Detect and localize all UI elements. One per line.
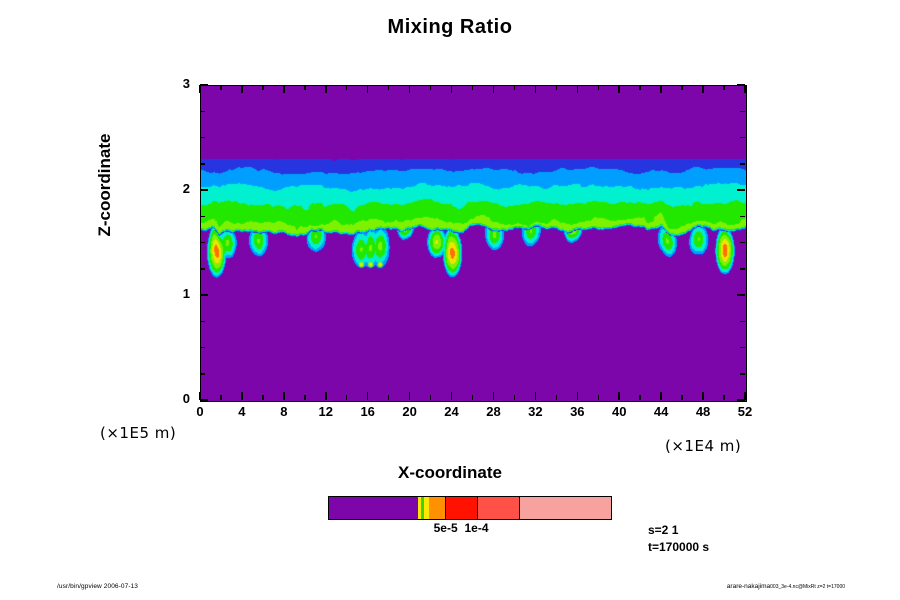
time-annotation: t=170000 s [648,540,709,554]
tick-mark [200,242,205,244]
tick-mark [702,392,704,400]
tick-mark [556,85,558,90]
tick-mark [577,392,579,400]
tick-mark [262,395,264,400]
tick-mark [241,392,243,400]
plot-area[interactable] [200,85,747,402]
colorbar-segment [429,497,447,519]
tick-mark [740,242,745,244]
tick-mark [388,395,390,400]
tick-mark [618,392,620,400]
x-tick-label: 44 [641,404,681,419]
tick-mark [451,85,453,93]
colorbar-segment [478,497,520,519]
tick-mark [740,137,745,139]
colorbar-label-1: 1e-4 [454,521,500,535]
tick-mark [472,395,474,400]
tick-mark [740,347,745,349]
tick-mark [430,395,432,400]
slice-annotation: s=2 1 [648,523,678,537]
tick-mark [493,392,495,400]
y-tick-label: 0 [160,391,190,406]
tick-mark [200,347,205,349]
tick-mark [737,294,745,296]
footer-right-main: arare-nakajima [727,583,770,590]
tick-mark [388,85,390,90]
tick-mark [220,85,222,90]
tick-mark [367,392,369,400]
tick-mark [304,85,306,90]
tick-mark [200,321,205,323]
tick-mark [493,85,495,93]
tick-mark [737,189,745,191]
tick-mark [346,395,348,400]
colorbar-segment [329,497,418,519]
tick-mark [740,111,745,113]
tick-mark [325,85,327,93]
tick-mark [241,85,243,93]
tick-mark [200,294,208,296]
tick-mark [660,85,662,93]
x-tick-label: 24 [432,404,472,419]
tick-mark [200,163,205,165]
tick-mark [598,85,600,90]
colorbar[interactable] [328,496,612,520]
tick-mark [740,373,745,375]
x-unit-right-label: (×1E4 m) [665,437,741,455]
tick-mark [200,216,205,218]
x-tick-label: 48 [683,404,723,419]
tick-mark [325,392,327,400]
tick-mark [283,85,285,93]
tick-mark [199,85,201,93]
y-axis-title: Z-coordinate [95,75,115,295]
tick-mark [737,399,745,401]
page-title: Mixing Ratio [0,16,900,39]
tick-mark [639,85,641,90]
tick-mark [737,84,745,86]
tick-mark [409,85,411,93]
tick-mark [200,399,208,401]
contour-plot-canvas [201,86,746,401]
y-tick-label: 2 [160,181,190,196]
x-tick-label: 20 [390,404,430,419]
x-tick-label: 52 [725,404,765,419]
tick-mark [304,395,306,400]
x-tick-label: 36 [557,404,597,419]
tick-mark [514,395,516,400]
tick-mark [577,85,579,93]
footer-left: /usr/bin/gpview 2006-07-13 [57,583,138,590]
tick-mark [598,395,600,400]
x-tick-label: 32 [515,404,555,419]
tick-mark [200,189,208,191]
tick-mark [346,85,348,90]
x-tick-label: 12 [306,404,346,419]
tick-mark [740,268,745,270]
tick-mark [702,85,704,93]
x-tick-label: 4 [222,404,262,419]
tick-mark [283,392,285,400]
tick-mark [200,111,205,113]
tick-mark [740,216,745,218]
y-tick-label: 3 [160,76,190,91]
colorbar-segment [446,497,478,519]
x-tick-label: 40 [599,404,639,419]
x-tick-label: 8 [264,404,304,419]
tick-mark [723,85,725,90]
footer-right: arare-nakajima003_3e-4.nc@MixRt z=2 t=17… [727,583,845,590]
tick-mark [472,85,474,90]
tick-mark [639,395,641,400]
tick-mark [200,373,205,375]
colorbar-segment [520,497,611,519]
tick-mark [535,85,537,93]
tick-mark [681,395,683,400]
tick-mark [681,85,683,90]
tick-mark [618,85,620,93]
tick-mark [744,85,746,93]
tick-mark [262,85,264,90]
tick-mark [200,137,205,139]
tick-mark [660,392,662,400]
x-tick-label: 16 [348,404,388,419]
x-tick-label: 28 [473,404,513,419]
footer-right-sub: 003_3e-4.nc@MixRt z=2 t=17000 [770,584,845,590]
y-tick-label: 1 [160,286,190,301]
x-tick-label: 0 [180,404,220,419]
tick-mark [200,268,205,270]
x-unit-left-label: (×1E5 m) [100,424,176,442]
tick-mark [451,392,453,400]
tick-mark [556,395,558,400]
tick-mark [535,392,537,400]
x-axis-title: X-coordinate [0,463,900,483]
tick-mark [740,321,745,323]
tick-mark [220,395,222,400]
tick-mark [367,85,369,93]
tick-mark [723,395,725,400]
tick-mark [430,85,432,90]
tick-mark [514,85,516,90]
tick-mark [740,163,745,165]
tick-mark [200,84,208,86]
tick-mark [409,392,411,400]
